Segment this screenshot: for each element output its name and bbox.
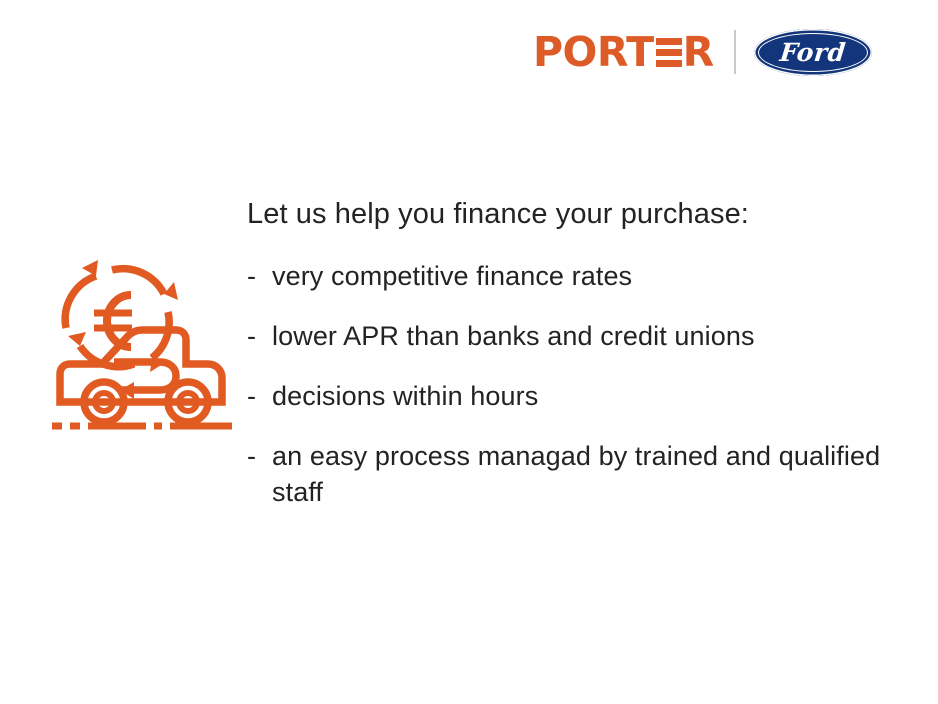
porter-wordmark-text-end: R [683, 32, 714, 73]
list-item-label: decisions within hours [272, 379, 887, 415]
finance-benefits-list: - very competitive finance rates - lower… [247, 259, 887, 511]
bullet-dash-marker: - [247, 379, 272, 415]
bullet-dash-marker: - [247, 439, 272, 475]
bullet-dash-marker: - [247, 259, 272, 295]
ford-logo: Ford [754, 29, 872, 76]
finance-slide: PORT R Ford [0, 0, 938, 704]
list-item: - lower APR than banks and credit unions [247, 319, 887, 355]
porter-wordmark-text: PORT [533, 32, 654, 73]
porter-logo: PORT R [533, 29, 714, 75]
list-item-label: an easy process managad by trained and q… [272, 439, 887, 511]
car-finance-euro-icon [42, 250, 242, 450]
bullet-dash-marker: - [247, 319, 272, 355]
list-item: - an easy process managad by trained and… [247, 439, 887, 511]
finance-content: Let us help you finance your purchase: -… [247, 196, 887, 511]
list-item: - decisions within hours [247, 379, 887, 415]
porter-stylized-e-icon [656, 38, 682, 67]
logo-divider [734, 30, 736, 74]
ford-wordmark-text: Ford [779, 40, 847, 65]
list-item-label: very competitive finance rates [272, 259, 887, 295]
brand-logo-bar: PORT R Ford [533, 22, 872, 82]
page-title: Let us help you finance your purchase: [247, 196, 887, 233]
list-item: - very competitive finance rates [247, 259, 887, 295]
list-item-label: lower APR than banks and credit unions [272, 319, 887, 355]
